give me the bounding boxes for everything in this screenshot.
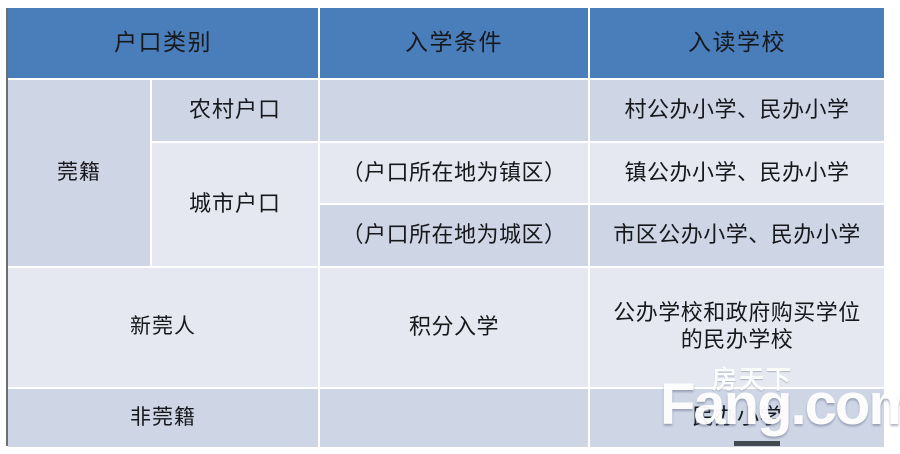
cell-subcategory-urban: 城市户口 bbox=[152, 143, 320, 268]
table-row: 莞籍 农村户口 村公办小学、民办小学 bbox=[8, 80, 886, 143]
cell-category-guanji: 莞籍 bbox=[8, 80, 152, 268]
cell-condition-non-guanji bbox=[320, 389, 590, 447]
cell-condition-points: 积分入学 bbox=[320, 268, 590, 389]
cell-school-new-guan-people: 公办学校和政府购买学位 的民办学校 bbox=[590, 268, 886, 389]
cell-school-town: 镇公办小学、民办小学 bbox=[590, 143, 886, 206]
enrollment-policy-table: 户口类别 入学条件 入读学校 莞籍 农村户口 村公办小学、民办小学 城市户口 （… bbox=[8, 8, 886, 447]
header-cell-enrollment-condition: 入学条件 bbox=[320, 8, 590, 80]
cell-school-non-guanji: 民办小学 bbox=[590, 389, 886, 447]
cell-subcategory-rural: 农村户口 bbox=[152, 80, 320, 143]
table-row: 非莞籍 民办小学 bbox=[8, 389, 886, 447]
cell-condition-city: （户口所在地为城区） bbox=[320, 205, 590, 268]
cell-category-non-guanji: 非莞籍 bbox=[8, 389, 320, 447]
header-cell-household-type: 户口类别 bbox=[8, 8, 320, 80]
cell-school-rural: 村公办小学、民办小学 bbox=[590, 80, 886, 143]
table-header: 户口类别 入学条件 入读学校 bbox=[8, 8, 886, 80]
table-body: 莞籍 农村户口 村公办小学、民办小学 城市户口 （户口所在地为镇区） 镇公办小学… bbox=[8, 80, 886, 447]
cell-condition-town: （户口所在地为镇区） bbox=[320, 143, 590, 206]
header-row: 户口类别 入学条件 入读学校 bbox=[8, 8, 886, 80]
table-screenshot: 户口类别 入学条件 入读学校 莞籍 农村户口 村公办小学、民办小学 城市户口 （… bbox=[0, 0, 900, 454]
header-cell-school: 入读学校 bbox=[590, 8, 886, 80]
cell-category-new-guan-people: 新莞人 bbox=[8, 268, 320, 389]
cell-school-city: 市区公办小学、民办小学 bbox=[590, 205, 886, 268]
table-row: 新莞人 积分入学 公办学校和政府购买学位 的民办学校 bbox=[8, 268, 886, 389]
cell-condition-rural bbox=[320, 80, 590, 143]
